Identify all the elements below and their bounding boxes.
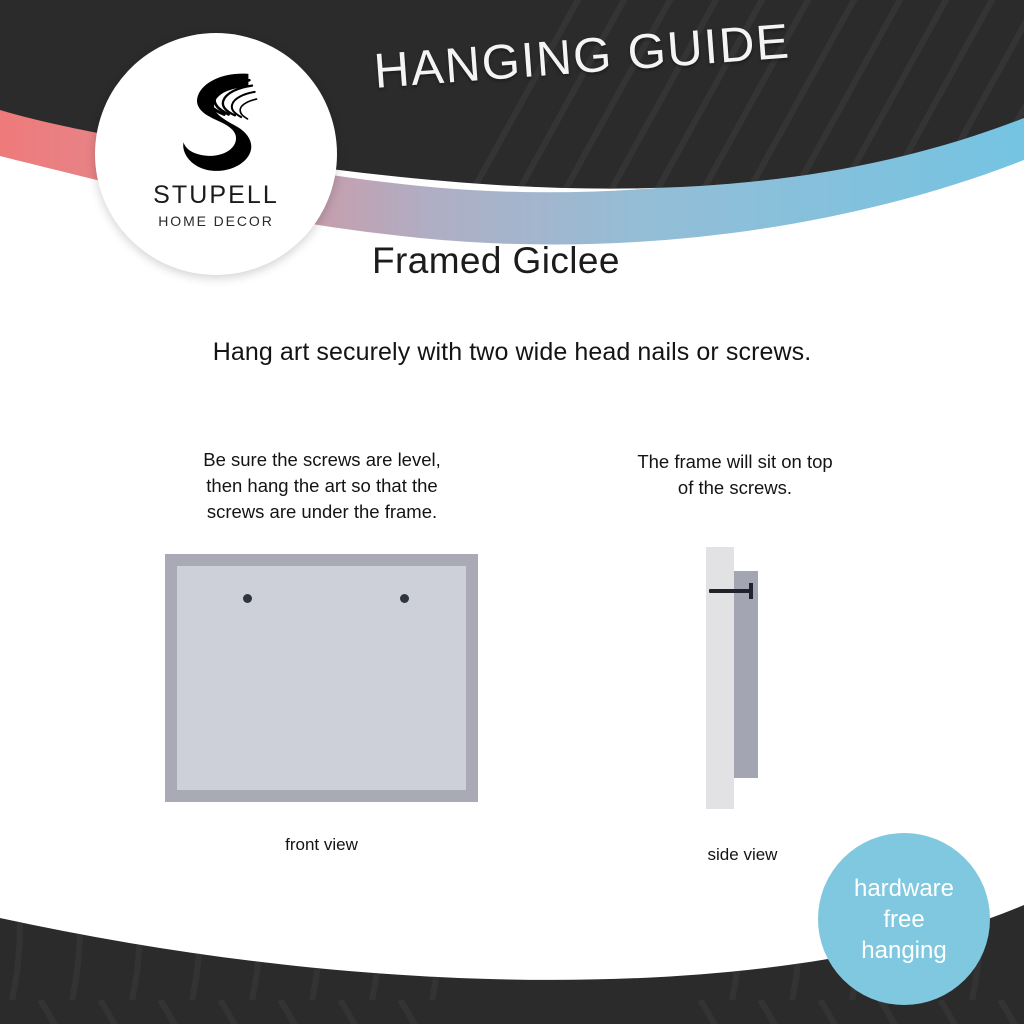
front-view-caption-line-2: then hang the art so that the xyxy=(152,473,492,499)
hardware-free-hanging-badge: hardware free hanging xyxy=(818,833,990,1005)
front-view-mat xyxy=(177,566,466,790)
nail-head-icon xyxy=(749,583,753,599)
badge-line-1: hardware xyxy=(854,873,954,904)
badge-line-3: hanging xyxy=(861,935,946,966)
side-view-caption-line-2: of the screws. xyxy=(590,475,880,501)
main-instruction: Hang art securely with two wide head nai… xyxy=(0,338,1024,367)
nail-icon xyxy=(709,589,752,593)
frame-profile xyxy=(734,571,758,778)
stupell-swoosh-logo-icon xyxy=(162,59,270,177)
badge-line-2: free xyxy=(883,904,924,935)
front-view-label: front view xyxy=(165,835,478,855)
front-view-diagram xyxy=(165,554,478,802)
side-view-caption-line-1: The frame will sit on top xyxy=(590,449,880,475)
front-view-caption: Be sure the screws are level, then hang … xyxy=(152,447,492,525)
wall-surface xyxy=(706,547,734,809)
screw-dot-icon xyxy=(400,594,409,603)
side-view-diagram xyxy=(706,547,780,809)
brand-name: STUPELL xyxy=(153,181,279,210)
brand-tagline: HOME DECOR xyxy=(158,213,273,229)
product-name: Framed Giclee xyxy=(372,240,620,282)
brand-logo-badge: STUPELL HOME DECOR xyxy=(95,33,337,275)
page-title: HANGING GUIDE xyxy=(372,13,792,99)
hanging-guide-page: STUPELL HOME DECOR HANGING GUIDE Framed … xyxy=(0,0,1024,1024)
side-view-label: side view xyxy=(655,845,830,865)
screw-dot-icon xyxy=(243,594,252,603)
front-view-caption-line-1: Be sure the screws are level, xyxy=(152,447,492,473)
front-view-caption-line-3: screws are under the frame. xyxy=(152,499,492,525)
side-view-caption: The frame will sit on top of the screws. xyxy=(590,449,880,501)
